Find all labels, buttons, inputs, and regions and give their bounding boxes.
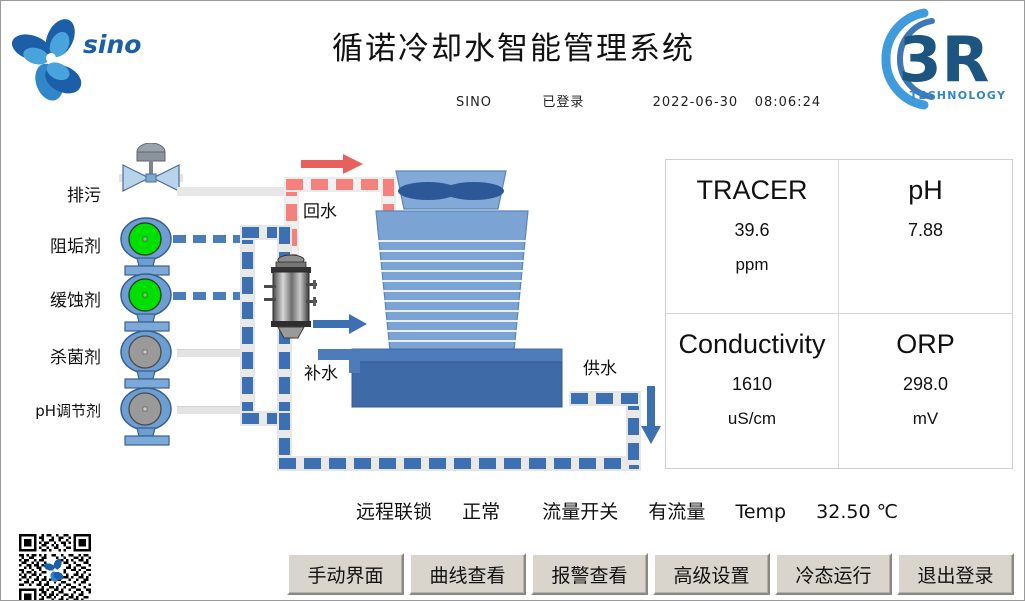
header-date: 2022-06-30 [653, 95, 739, 110]
corrosion-inhibitor-pump-icon[interactable] [119, 272, 175, 334]
corrosion-inhibitor-dose-line [173, 292, 245, 300]
main-button-bar: 手动界面 曲线查看 报警查看 高级设置 冷态运行 退出登录 [287, 553, 1014, 595]
orp-name: ORP [896, 328, 955, 362]
measurement-cell-orp: ORP 298.0 mV [839, 314, 1012, 468]
makeup-inlet-pipe-vertical [349, 349, 360, 373]
advanced-settings-button[interactable]: 高级设置 [653, 553, 770, 595]
tracer-value: 39.6 [734, 220, 769, 241]
makeup-water-label: 补水 [302, 359, 340, 384]
conductivity-unit: uS/cm [728, 409, 776, 429]
dosing-label-ph-adjuster: pH调节剂 [1, 400, 101, 421]
remote-interlock-value: 正常 [462, 501, 500, 523]
manual-interface-button[interactable]: 手动界面 [287, 553, 404, 595]
blowdown-valve-icon[interactable] [119, 143, 183, 201]
tower-basin-rim [352, 349, 562, 363]
qr-code [7, 534, 103, 601]
return-water-label: 回水 [301, 197, 339, 222]
orp-unit: mV [913, 409, 939, 429]
blowdown-line [177, 187, 287, 196]
header-status-line: SINO 已登录 2022-06-30 08:06:24 [456, 91, 821, 110]
page-title: 循诺冷却水智能管理系统 [1, 23, 1025, 68]
biocide-dose-line [177, 349, 245, 357]
measurement-cell-tracer: TRACER 39.6 ppm [666, 160, 839, 314]
cold-start-button[interactable]: 冷态运行 [775, 553, 892, 595]
antiscalant-pump-icon[interactable] [119, 216, 175, 278]
ph-name: pH [908, 174, 943, 208]
ph-value: 7.88 [908, 220, 943, 241]
ph-adjuster-dose-line [177, 406, 245, 414]
measurement-panel: TRACER 39.6 ppm pH 7.88 Conductivity 161… [665, 159, 1013, 469]
header-user: SINO [456, 95, 492, 110]
three-r-logo-subtext: TECHNOLOGY [910, 89, 1007, 102]
dosing-label-antiscalant: 阻垢剂 [15, 232, 101, 257]
flow-switch-label: 流量开关 [542, 501, 618, 523]
dosing-label-blowdown: 排污 [21, 181, 101, 206]
orp-value: 298.0 [903, 374, 948, 395]
logout-button[interactable]: 退出登录 [897, 553, 1014, 595]
flow-switch-value: 有流量 [648, 501, 705, 523]
supply-flow-arrow-icon [641, 386, 661, 446]
supply-pipe-bottom [279, 458, 639, 469]
header-time: 08:06:24 [755, 95, 821, 110]
dosing-label-biocide: 杀菌剂 [15, 343, 101, 368]
conductivity-name: Conductivity [678, 328, 825, 362]
tower-basin [352, 362, 562, 407]
temp-label: Temp [735, 501, 786, 523]
tracer-unit: ppm [735, 255, 768, 275]
remote-interlock-label: 远程联锁 [356, 501, 432, 523]
biocide-pump-icon[interactable] [119, 329, 175, 391]
sensor-vessel-icon[interactable] [263, 252, 319, 344]
cooling-tower-graphic [346, 169, 596, 419]
alarm-view-button[interactable]: 报警查看 [531, 553, 648, 595]
antiscalant-dose-line [173, 235, 245, 243]
ph-adjuster-pump-icon[interactable] [119, 386, 175, 448]
tracer-name: TRACER [696, 174, 807, 208]
dosing-manifold-vertical [242, 227, 253, 423]
hmi-screen: sino 3R TECHNOLOGY 循诺冷却水智能管理系统 SINO 已登录 … [0, 0, 1025, 601]
measurement-cell-conductivity: Conductivity 1610 uS/cm [666, 314, 839, 468]
header-login-status: 已登录 [542, 95, 584, 110]
curve-view-button[interactable]: 曲线查看 [409, 553, 526, 595]
temp-value: 32.50 [816, 501, 870, 523]
conductivity-value: 1610 [732, 374, 772, 395]
system-status-bar: 远程联锁 正常 流量开关 有流量 Temp 32.50 ℃ [356, 497, 898, 524]
fan-blade-right [444, 182, 504, 200]
measurement-cell-ph: pH 7.88 [839, 160, 1012, 314]
dosing-label-corrosion-inhibitor: 缓蚀剂 [15, 286, 101, 311]
temp-unit: ℃ [877, 501, 898, 523]
